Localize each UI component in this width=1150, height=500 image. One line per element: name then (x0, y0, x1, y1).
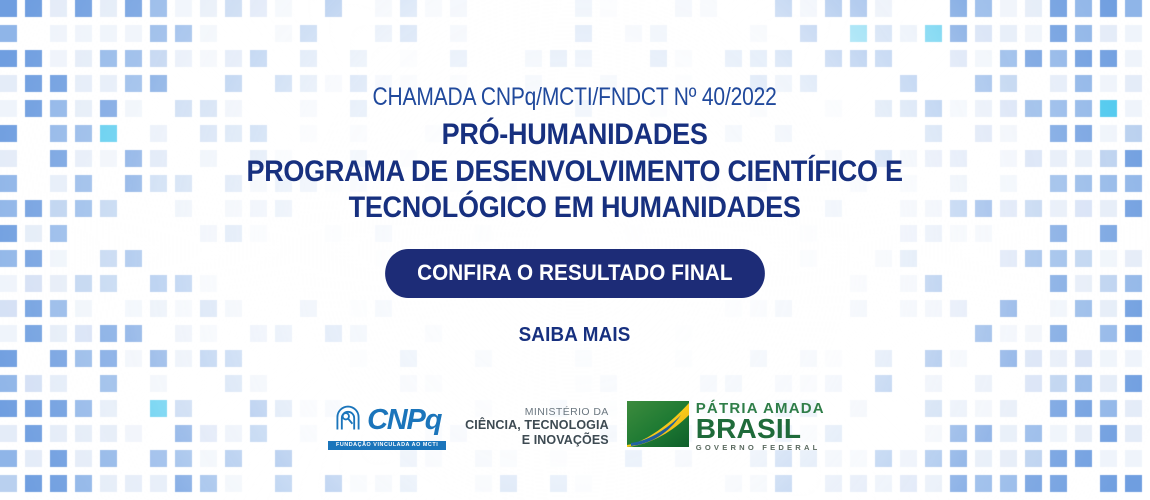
page-title: PRÓ-HUMANIDADES PROGRAMA DE DESENVOLVIME… (247, 117, 903, 227)
governo-federal-logo[interactable]: PÁTRIA AMADA BRASIL GOVERNO FEDERAL (627, 401, 825, 452)
mcti-logo[interactable]: MINISTÉRIO DA CIÊNCIA, TECNOLOGIA E INOV… (465, 406, 611, 448)
title-line-2: PROGRAMA DE DESENVOLVIMENTO CIENTÍFICO E (247, 154, 903, 191)
title-line-3: TECNOLÓGICO EM HUMANIDADES (247, 190, 903, 227)
cnpq-logo[interactable]: CNPq FUNDAÇÃO VINCULADA AO MCTI (325, 403, 449, 449)
mcti-line-1: MINISTÉRIO DA (465, 406, 609, 418)
mcti-line-3: E INOVAÇÕES (465, 433, 609, 448)
logo-strip: CNPq FUNDAÇÃO VINCULADA AO MCTI MINISTÉR… (0, 401, 1150, 452)
cnpq-wordmark: CNPq (367, 406, 441, 435)
cnpq-tagline: FUNDAÇÃO VINCULADA AO MCTI (328, 441, 446, 449)
brasil-flag-icon (627, 401, 689, 452)
saiba-mais-link[interactable]: SAIBA MAIS (519, 324, 631, 347)
title-line-1: PRÓ-HUMANIDADES (247, 117, 903, 154)
brasil-wordmark: PÁTRIA AMADA BRASIL GOVERNO FEDERAL (696, 401, 825, 452)
promo-banner: CHAMADA CNPq/MCTI/FNDCT Nº 40/2022 PRÓ-H… (0, 0, 1150, 500)
cnpq-logo-top: CNPq (333, 403, 441, 438)
brasil-line-2: BRASIL (696, 415, 825, 443)
mcti-line-2: CIÊNCIA, TECNOLOGIA (465, 418, 609, 433)
call-reference-text: CHAMADA CNPq/MCTI/FNDCT Nº 40/2022 (373, 84, 777, 110)
confira-resultado-final-button[interactable]: CONFIRA O RESULTADO FINAL (385, 249, 765, 298)
cnpq-head-icon (333, 403, 363, 438)
cta-container: CONFIRA O RESULTADO FINAL (373, 249, 777, 298)
brasil-line-3: GOVERNO FEDERAL (696, 444, 825, 452)
